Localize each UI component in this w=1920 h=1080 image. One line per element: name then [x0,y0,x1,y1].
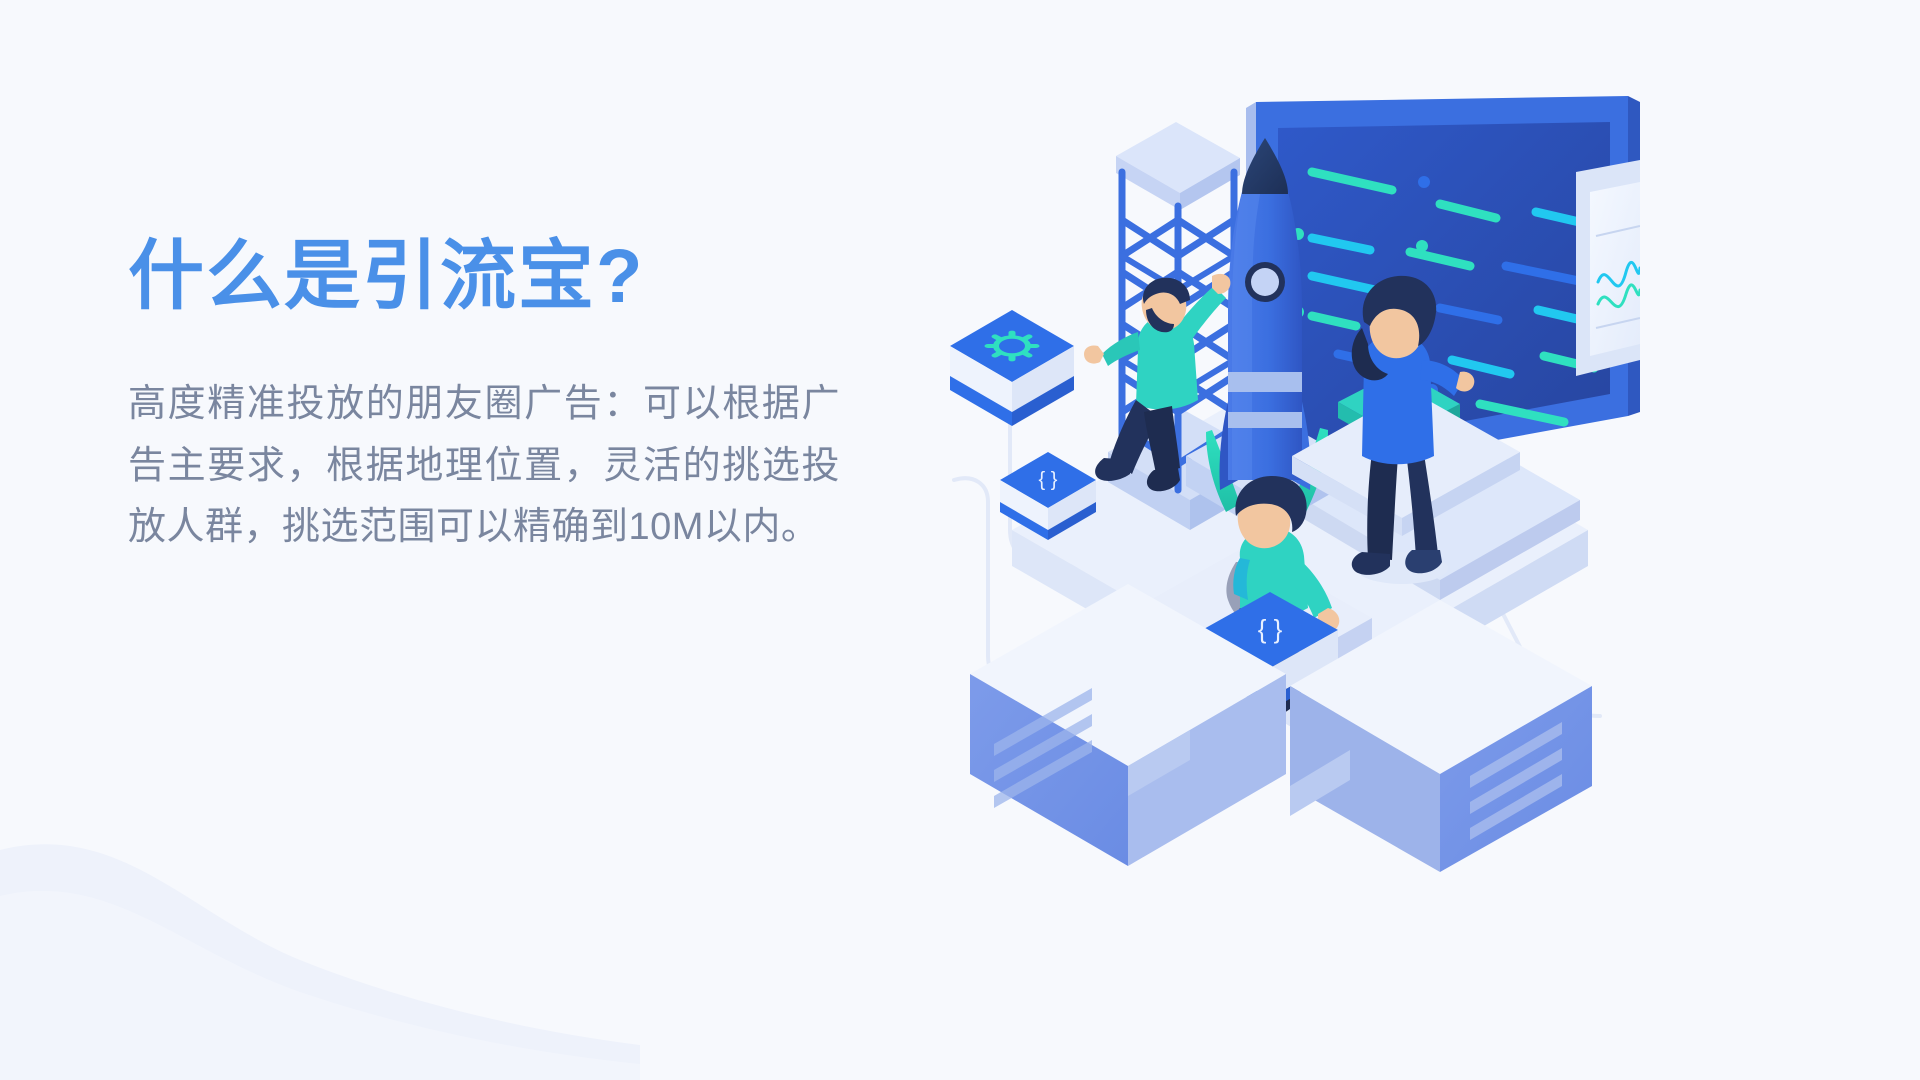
chart-panel [1576,160,1640,376]
hero-page: 什么是引流宝? 高度精准投放的朋友圈广告：可以根据广告主要求，根据地理位置，灵活… [0,0,1920,1080]
hero-illustration: </> [940,60,1640,910]
hero-text-column: 什么是引流宝? 高度精准投放的朋友圈广告：可以根据广告主要求，根据地理位置，灵活… [128,236,868,559]
gear-cube [950,310,1074,426]
hero-description: 高度精准投放的朋友圈广告：可以根据广告主要求，根据地理位置，灵活的挑选投放人群，… [128,374,840,559]
braces-icon: { } [1039,469,1058,491]
background-wave [0,700,640,1080]
page-title: 什么是引流宝? [128,236,868,318]
svg-text:{ }: { } [1258,614,1283,644]
